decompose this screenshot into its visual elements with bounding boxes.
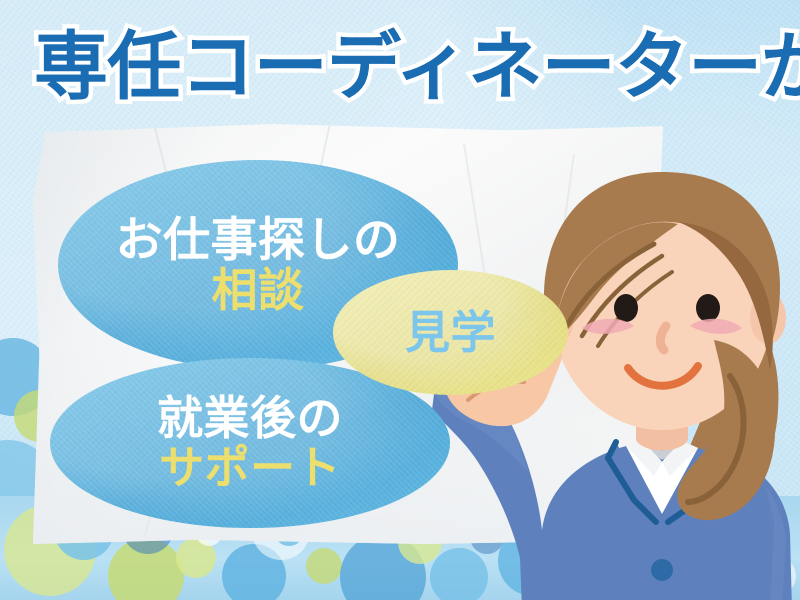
ellipse-consult-line1: お仕事探しの [116, 217, 401, 265]
ellipse-support-line1: 就業後の [157, 395, 343, 442]
suit-button [651, 559, 673, 581]
eye-right [696, 294, 720, 322]
ellipse-tour[interactable]: 見学 [333, 270, 568, 395]
ellipse-tour-line1: 見学 [405, 310, 496, 356]
banner-canvas: お仕事探しの 相談 就業後の サポート 見学 [0, 0, 800, 600]
eye-left [614, 294, 638, 322]
ellipse-consult-line2: 相談 [212, 267, 305, 314]
ellipse-support-line2: サポート [159, 445, 341, 491]
nose [660, 326, 666, 350]
page-title: 専任コーディネーターが [34, 18, 774, 116]
